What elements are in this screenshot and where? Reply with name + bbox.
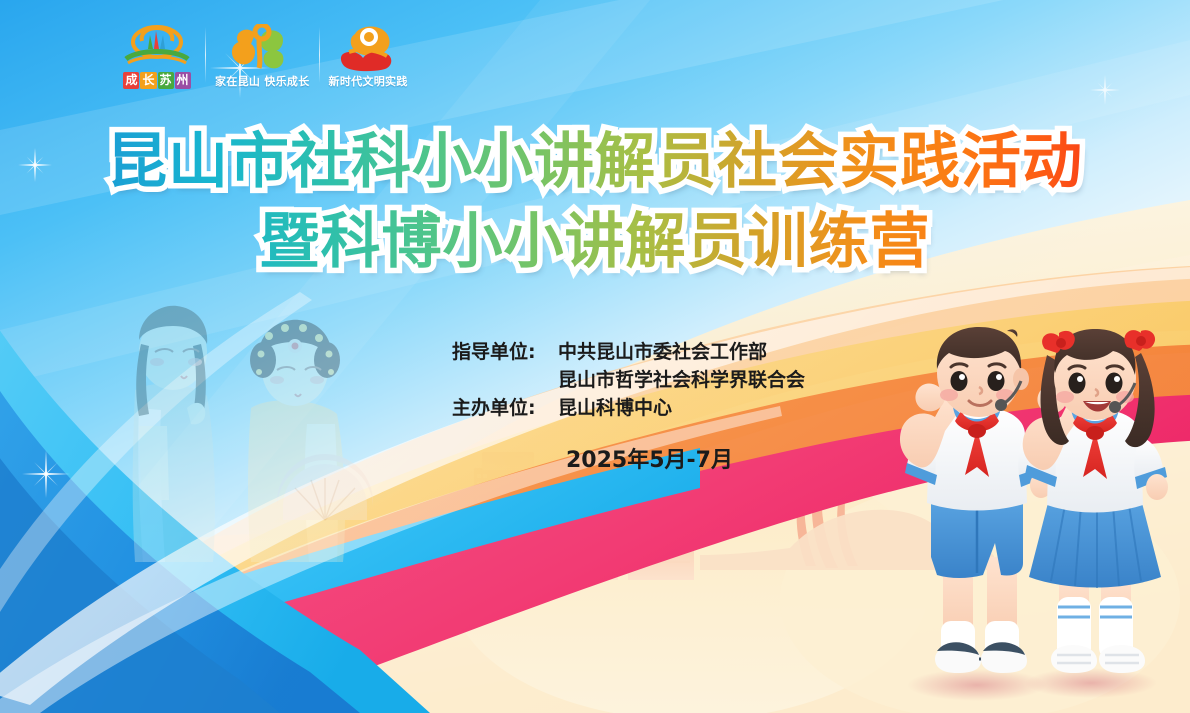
- logo-block-4: 州: [175, 72, 191, 89]
- logo-block-1: 成: [123, 72, 139, 89]
- title-line-2-fill: 暨科博小小讲解员训练营: [0, 206, 1190, 278]
- jiazai-kunshan-caption: 家在昆山 快乐成长: [215, 75, 310, 89]
- suzhou-garden-icon: [118, 25, 196, 71]
- event-date: 2025年5月-7月: [566, 446, 733, 476]
- host-row: 主办单位: 昆山科博中心: [452, 394, 805, 422]
- logo-divider: [205, 27, 206, 83]
- poster-title: 昆山市社科小小讲解员社会实践活动 昆山市社科小小讲解员社会实践活动 暨科博小小讲…: [0, 126, 1190, 278]
- butterfly-child-icon: [229, 24, 295, 72]
- guidance-row: 指导单位: 中共昆山市委社会工作部: [452, 338, 805, 366]
- host-label: 主办单位:: [452, 394, 558, 422]
- host-value: 昆山科博中心: [558, 394, 672, 422]
- xinshidai-wenming-caption: 新时代文明实践: [329, 75, 408, 89]
- chengzhang-suzhou-label: 成 长 苏 州: [123, 72, 190, 89]
- title-line-1-fill: 昆山市社科小小讲解员社会实践活动: [0, 126, 1190, 198]
- poster-canvas: 成 长 苏 州 家在昆山 快乐成长: [0, 0, 1190, 713]
- logo-divider: [319, 27, 320, 83]
- guidance-value-second: 昆山市哲学社会科学界联合会: [558, 366, 805, 394]
- xinshidai-wenming-logo: 新时代文明实践: [329, 24, 408, 89]
- guidance-label: 指导单位:: [452, 338, 558, 366]
- guidance-value: 中共昆山市委社会工作部: [558, 338, 767, 366]
- logo-block-2: 长: [140, 72, 156, 89]
- girl-figure: [1023, 329, 1168, 673]
- kunqu-opera-illustration: [95, 300, 395, 565]
- jiazai-kunshan-logo: 家在昆山 快乐成长: [215, 24, 310, 89]
- title-line-2: 暨科博小小讲解员训练营 暨科博小小讲解员训练营: [0, 206, 1190, 278]
- logo-bar: 成 长 苏 州 家在昆山 快乐成长: [118, 24, 408, 89]
- chengzhang-suzhou-logo: 成 长 苏 州: [118, 25, 196, 89]
- saluting-students-illustration: [895, 325, 1190, 713]
- boy-figure: [900, 327, 1052, 673]
- blossom-heart-icon: [335, 24, 401, 72]
- title-line-1: 昆山市社科小小讲解员社会实践活动 昆山市社科小小讲解员社会实践活动: [0, 126, 1190, 198]
- logo-block-3: 苏: [158, 72, 174, 89]
- organizer-info: 指导单位: 中共昆山市委社会工作部 昆山市哲学社会科学界联合会 主办单位: 昆山…: [452, 338, 805, 422]
